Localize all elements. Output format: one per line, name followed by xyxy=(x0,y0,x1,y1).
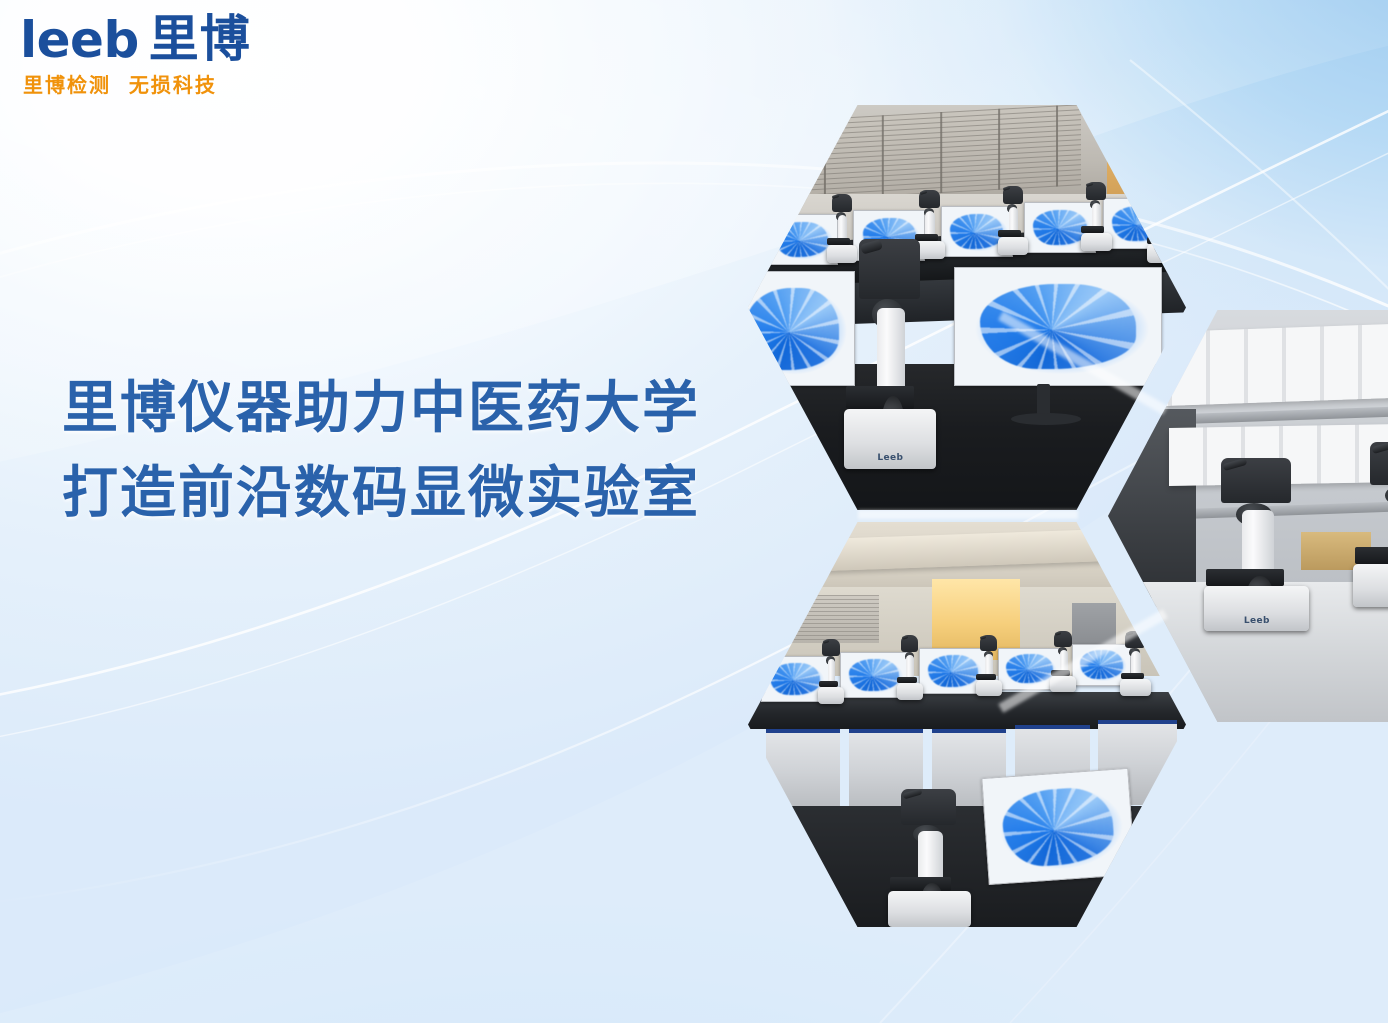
microscope-base xyxy=(818,687,844,704)
microscope-head-icon xyxy=(1086,182,1106,200)
microscope-row-1 xyxy=(818,639,844,704)
microscope-stage xyxy=(890,877,952,891)
microscope-head-icon xyxy=(1221,458,1290,503)
microscope-base xyxy=(897,683,923,700)
microscope-warehouse-2: Leeb xyxy=(1353,442,1388,607)
promo-banner: leeb 里博 里博检测 无损科技 里博仪器助力中医药大学 打造前沿数码显微实验… xyxy=(0,0,1388,1023)
logo-chinese-wordmark: 里博 xyxy=(149,14,251,64)
microscope-head-icon xyxy=(901,635,918,652)
microscope-row-3 xyxy=(976,635,1002,696)
microscope-head-icon xyxy=(1370,442,1388,485)
page-title: 里博仪器助力中医药大学 打造前沿数码显微实验室 xyxy=(62,366,700,536)
microscope-head-icon xyxy=(822,639,839,656)
microscope-stage xyxy=(846,386,914,409)
monitor-stand-neck xyxy=(1037,384,1050,416)
microscope-brand-label: Leeb xyxy=(877,453,903,463)
microscope-head-icon xyxy=(832,194,852,212)
microscope-foreground xyxy=(888,789,971,927)
microscope-row-2 xyxy=(897,635,923,700)
monitor-stand-base xyxy=(1011,413,1081,425)
microscope-stage xyxy=(1081,226,1104,233)
microscope-base xyxy=(976,680,1002,696)
microscope-head-icon xyxy=(1003,186,1023,204)
microscope-foreground-main: Leeb xyxy=(844,239,936,470)
microscope-base xyxy=(1050,676,1076,692)
headline-line-2: 打造前沿数码显微实验室 xyxy=(62,451,700,536)
microscope-stage xyxy=(998,230,1021,237)
microscope-row-4 xyxy=(1050,631,1076,692)
microscope-head-icon xyxy=(859,239,920,299)
microscope-head-icon xyxy=(1054,631,1071,647)
microscope-head-icon xyxy=(919,190,939,208)
logo-wordmark-row: leeb 里博 xyxy=(20,14,310,64)
microscope-stage xyxy=(1206,569,1284,586)
microscope-warehouse-1: Leeb xyxy=(1204,458,1309,631)
microscope-base xyxy=(888,891,971,927)
microscope-head-icon xyxy=(901,789,956,825)
microscope-base xyxy=(1081,233,1112,251)
microscope-back-4 xyxy=(1081,182,1112,251)
monitor-foreground-main xyxy=(954,267,1162,386)
logo-latin-wordmark: leeb xyxy=(20,15,139,65)
logo-tagline: 里博检测 无损科技 xyxy=(23,69,310,98)
headline-line-1: 里博仪器助力中医药大学 xyxy=(62,366,700,451)
microscope-back-3 xyxy=(998,186,1029,255)
microscope-base xyxy=(1353,564,1388,607)
brand-logo[interactable]: leeb 里博 里博检测 无损科技 xyxy=(20,14,310,98)
microscope-brand-label: Leeb xyxy=(1244,616,1270,626)
microscope-base xyxy=(1120,679,1151,696)
microscope-stage xyxy=(1355,547,1388,563)
microscope-base xyxy=(998,237,1029,255)
microscope-head-icon xyxy=(980,635,997,651)
